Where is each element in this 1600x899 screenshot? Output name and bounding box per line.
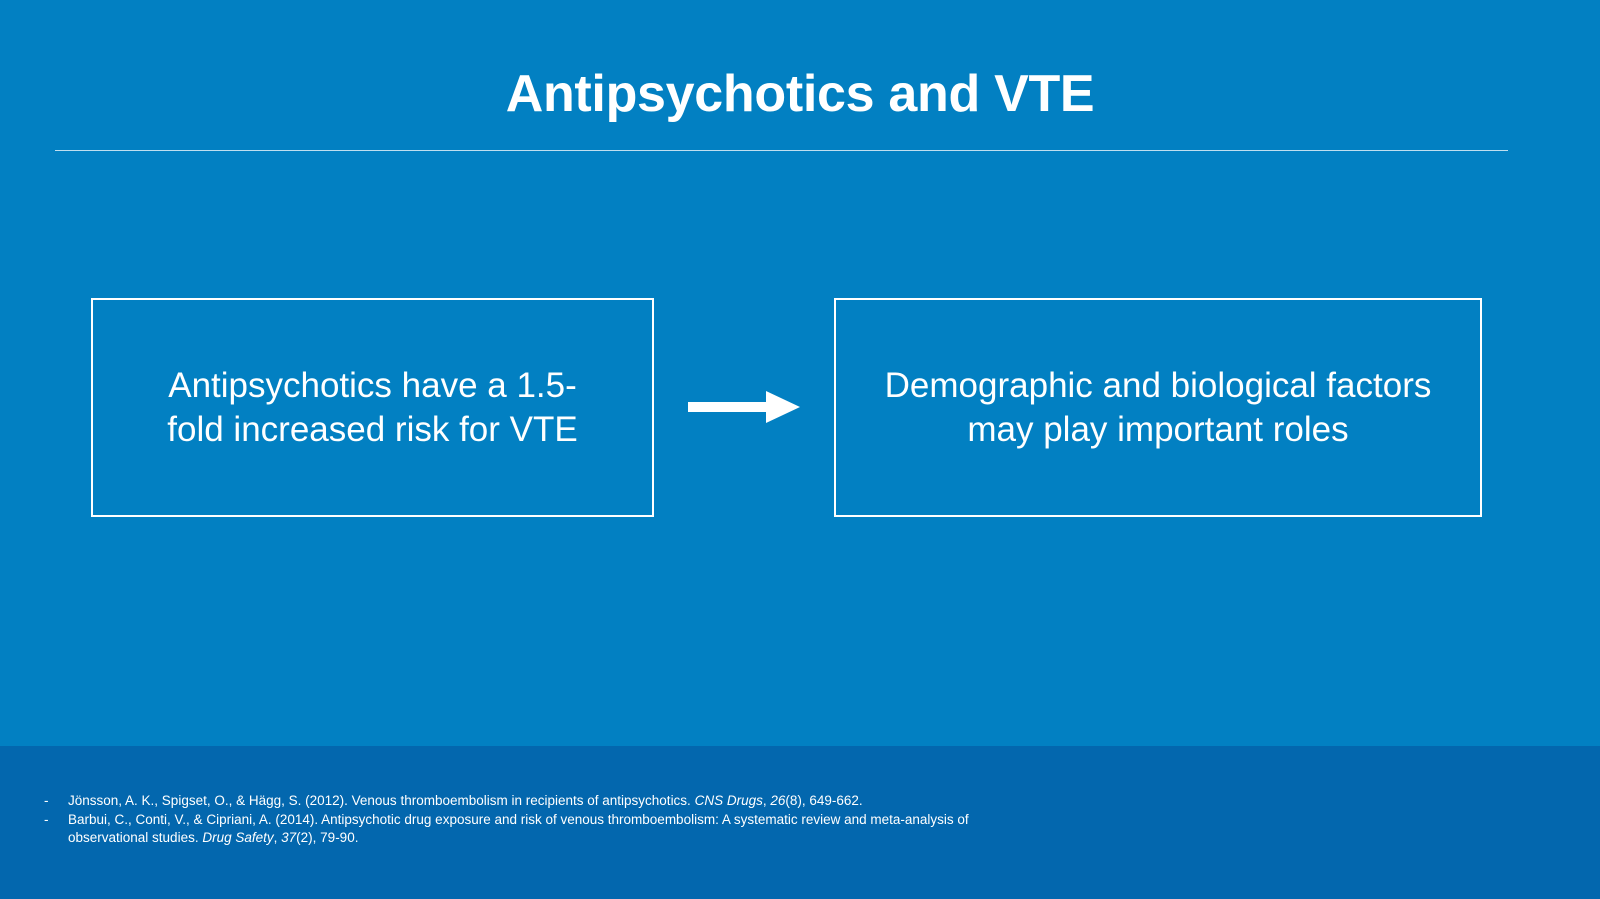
citation-volume: 26: [770, 793, 785, 808]
concept-box-right: Demographic and biological factors may p…: [834, 298, 1482, 517]
concept-box-right-text: Demographic and biological factors may p…: [868, 364, 1448, 452]
list-item: - Barbui, C., Conti, V., & Cipriani, A. …: [44, 811, 974, 848]
citation-text: Barbui, C., Conti, V., & Cipriani, A. (2…: [68, 811, 974, 848]
citation-suffix: (2), 79-90.: [296, 830, 358, 845]
citation-bullet: -: [44, 792, 68, 811]
citation-volume: 37: [281, 830, 296, 845]
citation-journal: CNS Drugs: [695, 793, 763, 808]
citation-separator: ,: [274, 830, 282, 845]
slide: Antipsychotics and VTE Antipsychotics ha…: [0, 0, 1600, 899]
list-item: - Jönsson, A. K., Spigset, O., & Hägg, S…: [44, 792, 974, 811]
citation-prefix: Jönsson, A. K., Spigset, O., & Hägg, S. …: [68, 793, 695, 808]
citation-journal: Drug Safety: [202, 830, 273, 845]
title-divider: [55, 150, 1508, 151]
citation-suffix: (8), 649-662.: [785, 793, 862, 808]
concept-box-left: Antipsychotics have a 1.5-fold increased…: [91, 298, 654, 517]
citation-text: Jönsson, A. K., Spigset, O., & Hägg, S. …: [68, 792, 974, 811]
citation-bullet: -: [44, 811, 68, 830]
page-title: Antipsychotics and VTE: [0, 66, 1600, 123]
footer-band: - Jönsson, A. K., Spigset, O., & Hägg, S…: [0, 746, 1600, 899]
concept-box-left-text: Antipsychotics have a 1.5-fold increased…: [153, 364, 593, 452]
citation-list: - Jönsson, A. K., Spigset, O., & Hägg, S…: [44, 792, 974, 848]
arrow-right-icon: [688, 390, 800, 424]
